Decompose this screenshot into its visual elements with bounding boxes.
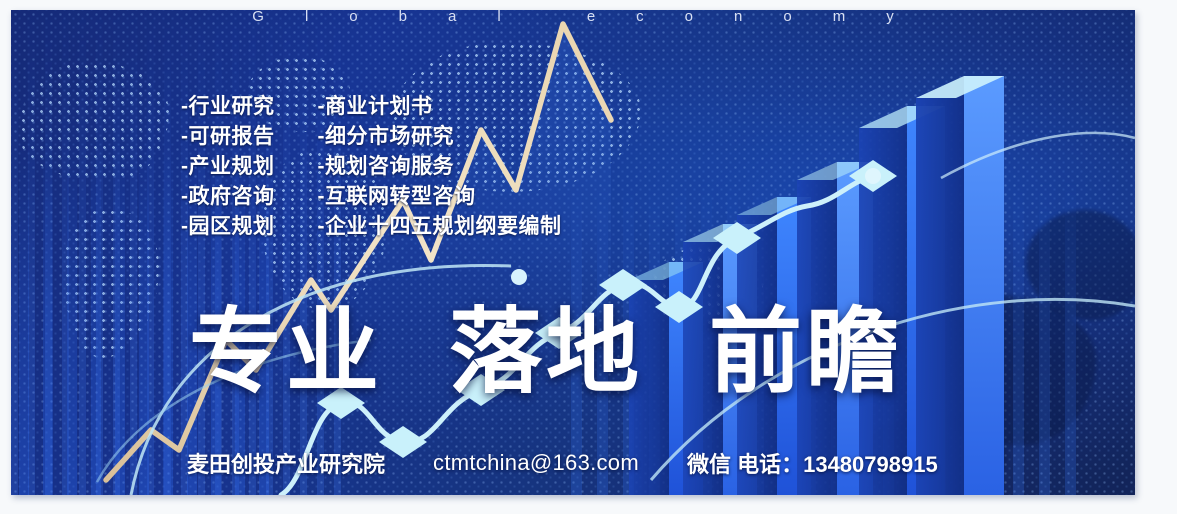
service-item: -政府咨询 [181, 182, 275, 212]
services-column-left: -行业研究 -可研报告 -产业规划 -政府咨询 -园区规划 [181, 92, 275, 242]
organization-name: 麦田创投产业研究院 [187, 447, 385, 479]
banner-canvas: Global economy -行业研究 -可研报告 -产业规划 -政府咨询 -… [0, 0, 1177, 514]
arc-right-orbit-top [941, 133, 1135, 178]
service-item: -园区规划 [181, 212, 275, 242]
arc-node-dot [511, 269, 527, 285]
service-item: -商业计划书 [318, 92, 562, 122]
service-item: -细分市场研究 [318, 122, 562, 152]
decorative-arcs [11, 10, 1135, 495]
service-item: -可研报告 [181, 122, 275, 152]
blue-banner-panel: Global economy -行业研究 -可研报告 -产业规划 -政府咨询 -… [11, 10, 1135, 495]
headline-word-3: 前瞻 [709, 306, 903, 399]
service-item: -企业十四五规划纲要编制 [318, 212, 562, 242]
headline-slogan: 专业 落地 前瞻 [189, 306, 903, 399]
service-item: -产业规划 [181, 152, 275, 182]
services-lists: -行业研究 -可研报告 -产业规划 -政府咨询 -园区规划 -商业计划书 -细分… [181, 92, 562, 242]
wechat-phone-text: 微信 电话：13480798915 [687, 447, 938, 479]
service-item: -行业研究 [181, 92, 275, 122]
services-column-right: -商业计划书 -细分市场研究 -规划咨询服务 -互联网转型咨询 -企业十四五规划… [318, 92, 562, 242]
top-label-global-economy: Global economy [11, 10, 1135, 25]
service-item: -互联网转型咨询 [318, 182, 562, 212]
footer-contact-row: 麦田创投产业研究院 ctmtchina@163.com 微信 电话：134807… [187, 447, 938, 479]
headline-word-1: 专业 [189, 306, 383, 399]
service-item: -规划咨询服务 [318, 152, 562, 182]
headline-word-2: 落地 [449, 306, 643, 399]
email-address: ctmtchina@163.com [433, 450, 639, 476]
